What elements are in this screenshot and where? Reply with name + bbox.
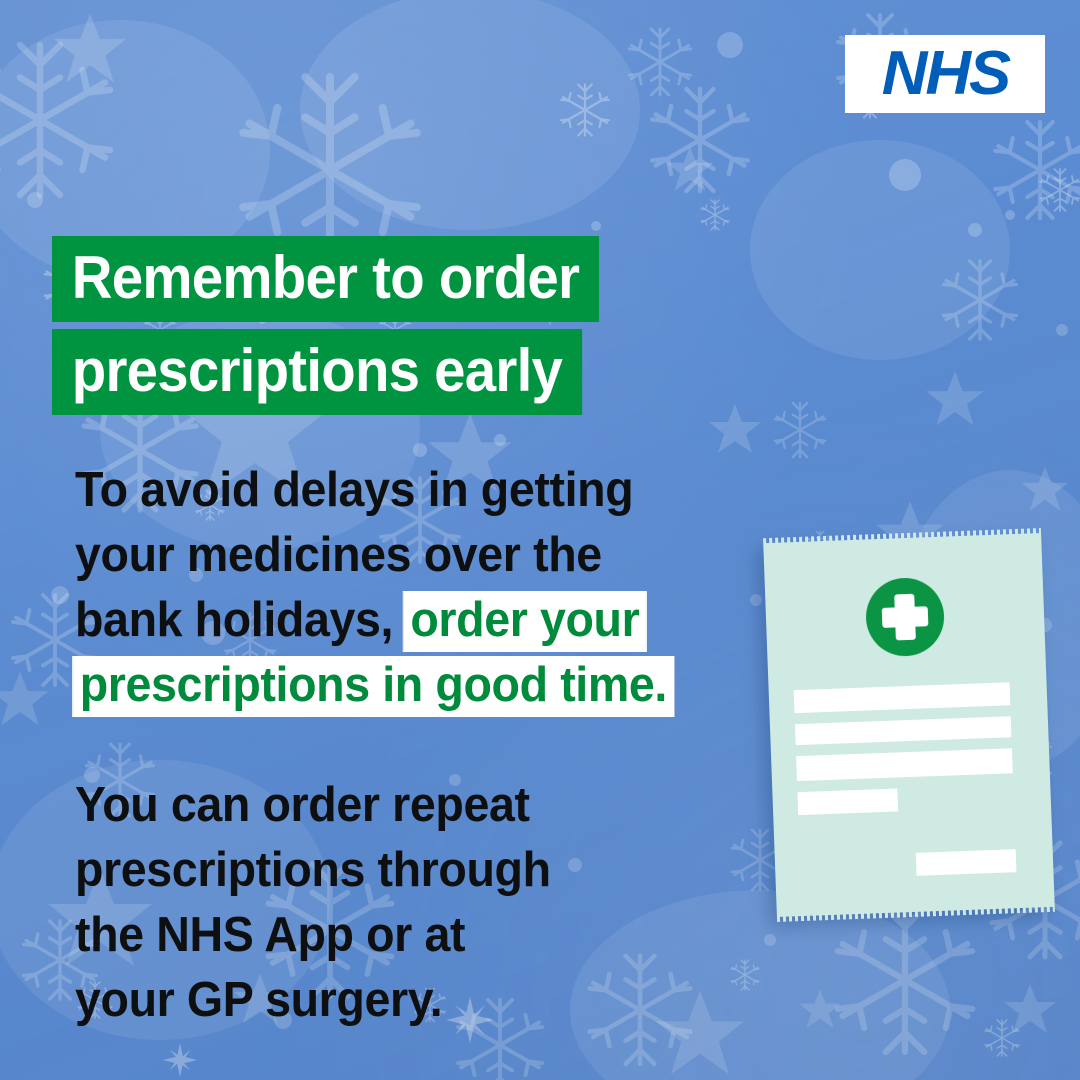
body-line-1: To avoid delays in getting — [75, 458, 759, 523]
nhs-logo: NHS — [845, 35, 1045, 113]
body-line-5: You can order repeat — [75, 773, 759, 838]
body-line-7: the NHS App or at — [75, 903, 759, 968]
headline: Remember to order prescriptions early — [52, 236, 634, 415]
body-line-4: prescriptions in good time. — [75, 653, 759, 718]
paragraph-secondary: You can order repeat prescriptions throu… — [75, 773, 759, 1033]
body-line-3: bank holidays, order your — [75, 588, 759, 653]
prescription-text-bar — [797, 788, 898, 815]
body-line-2: your medicines over the — [75, 523, 759, 588]
headline-line-2: prescriptions early — [52, 329, 582, 415]
body-line-8: your GP surgery. — [75, 968, 759, 1033]
headline-line-1: Remember to order — [52, 236, 599, 322]
poster-canvas: NHS Remember to order prescriptions earl… — [0, 0, 1080, 1080]
body-highlight-1: order your — [404, 592, 646, 651]
cross-horizontal-bar — [882, 606, 929, 628]
prescription-signature-bar — [916, 849, 1017, 876]
body-line-6: prescriptions through — [75, 838, 759, 903]
body-copy: To avoid delays in getting your medicine… — [75, 458, 795, 1033]
prescription-illustration — [763, 533, 1055, 917]
paragraph-primary: To avoid delays in getting your medicine… — [75, 458, 759, 718]
body-highlight-2: prescriptions in good time. — [73, 657, 673, 716]
nhs-logo-text: NHS — [881, 43, 1008, 105]
